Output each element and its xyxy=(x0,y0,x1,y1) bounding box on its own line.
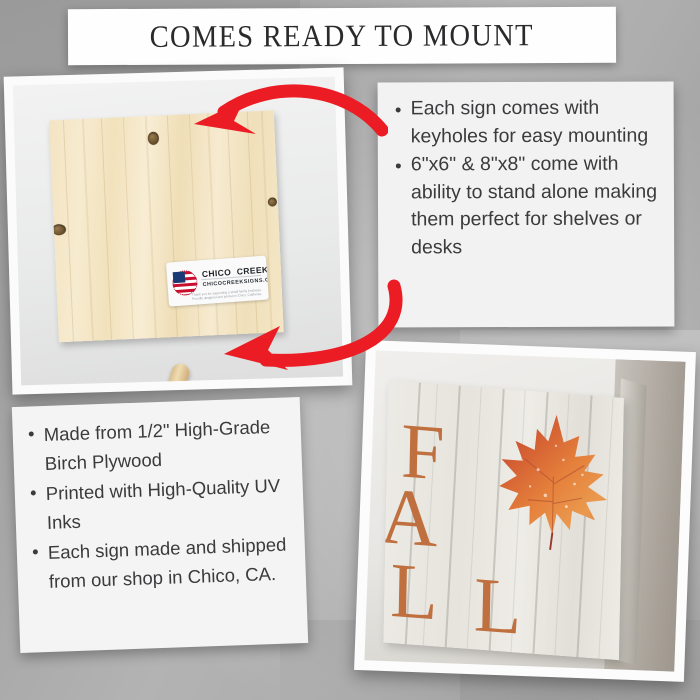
birch-plywood-board: CHICO CREEK CHICOCREEKSIGNS.COM Thank yo… xyxy=(49,110,284,342)
label-brand-left: CHICO xyxy=(202,267,232,279)
shiplap-sign-face: F A L L xyxy=(383,380,624,660)
title-banner: COMES READY TO MOUNT xyxy=(68,7,616,65)
label-brand-right: CREEK xyxy=(236,264,268,276)
page-title: COMES READY TO MOUNT xyxy=(150,17,534,55)
mounting-features-panel: Each sign comes with keyholes for easy m… xyxy=(378,81,675,327)
sign-letter-l1: L xyxy=(390,551,439,633)
photo-backdrop: CHICO CREEK CHICOCREEKSIGNS.COM Thank yo… xyxy=(13,77,343,386)
list-item: Made from 1/2" High-Grade Birch Plywood xyxy=(24,411,292,478)
label-fine-print: Thank you for supporting a small family … xyxy=(190,288,263,302)
mounting-hole-right xyxy=(268,197,277,206)
maple-leaf-graphic xyxy=(493,408,613,557)
fall-sign-photo: F A L L xyxy=(354,340,696,682)
keyhole-icon xyxy=(148,132,160,145)
infographic-canvas: COMES READY TO MOUNT xyxy=(0,0,700,700)
brand-label: CHICO CREEK CHICOCREEKSIGNS.COM Thank yo… xyxy=(166,256,269,307)
list-item: Each sign comes with keyholes for easy m… xyxy=(392,95,662,151)
mounting-features-list: Each sign comes with keyholes for easy m… xyxy=(378,81,675,261)
materials-features-list: Made from 1/2" High-Grade Birch Plywood … xyxy=(12,397,306,597)
sign-letter-l2: L xyxy=(473,565,522,647)
list-item: Each sign made and shipped from our shop… xyxy=(28,529,296,596)
mounting-hole-left xyxy=(52,224,66,236)
list-item: Printed with High-Quality UV Inks xyxy=(26,470,294,537)
list-item: 6"x6" & 8"x8" come with ability to stand… xyxy=(392,151,662,262)
dowel-stand xyxy=(161,362,191,386)
materials-features-panel: Made from 1/2" High-Grade Birch Plywood … xyxy=(12,397,308,653)
photo-backdrop: F A L L xyxy=(364,350,685,671)
sign-back-photo: CHICO CREEK CHICOCREEKSIGNS.COM Thank yo… xyxy=(4,67,353,394)
